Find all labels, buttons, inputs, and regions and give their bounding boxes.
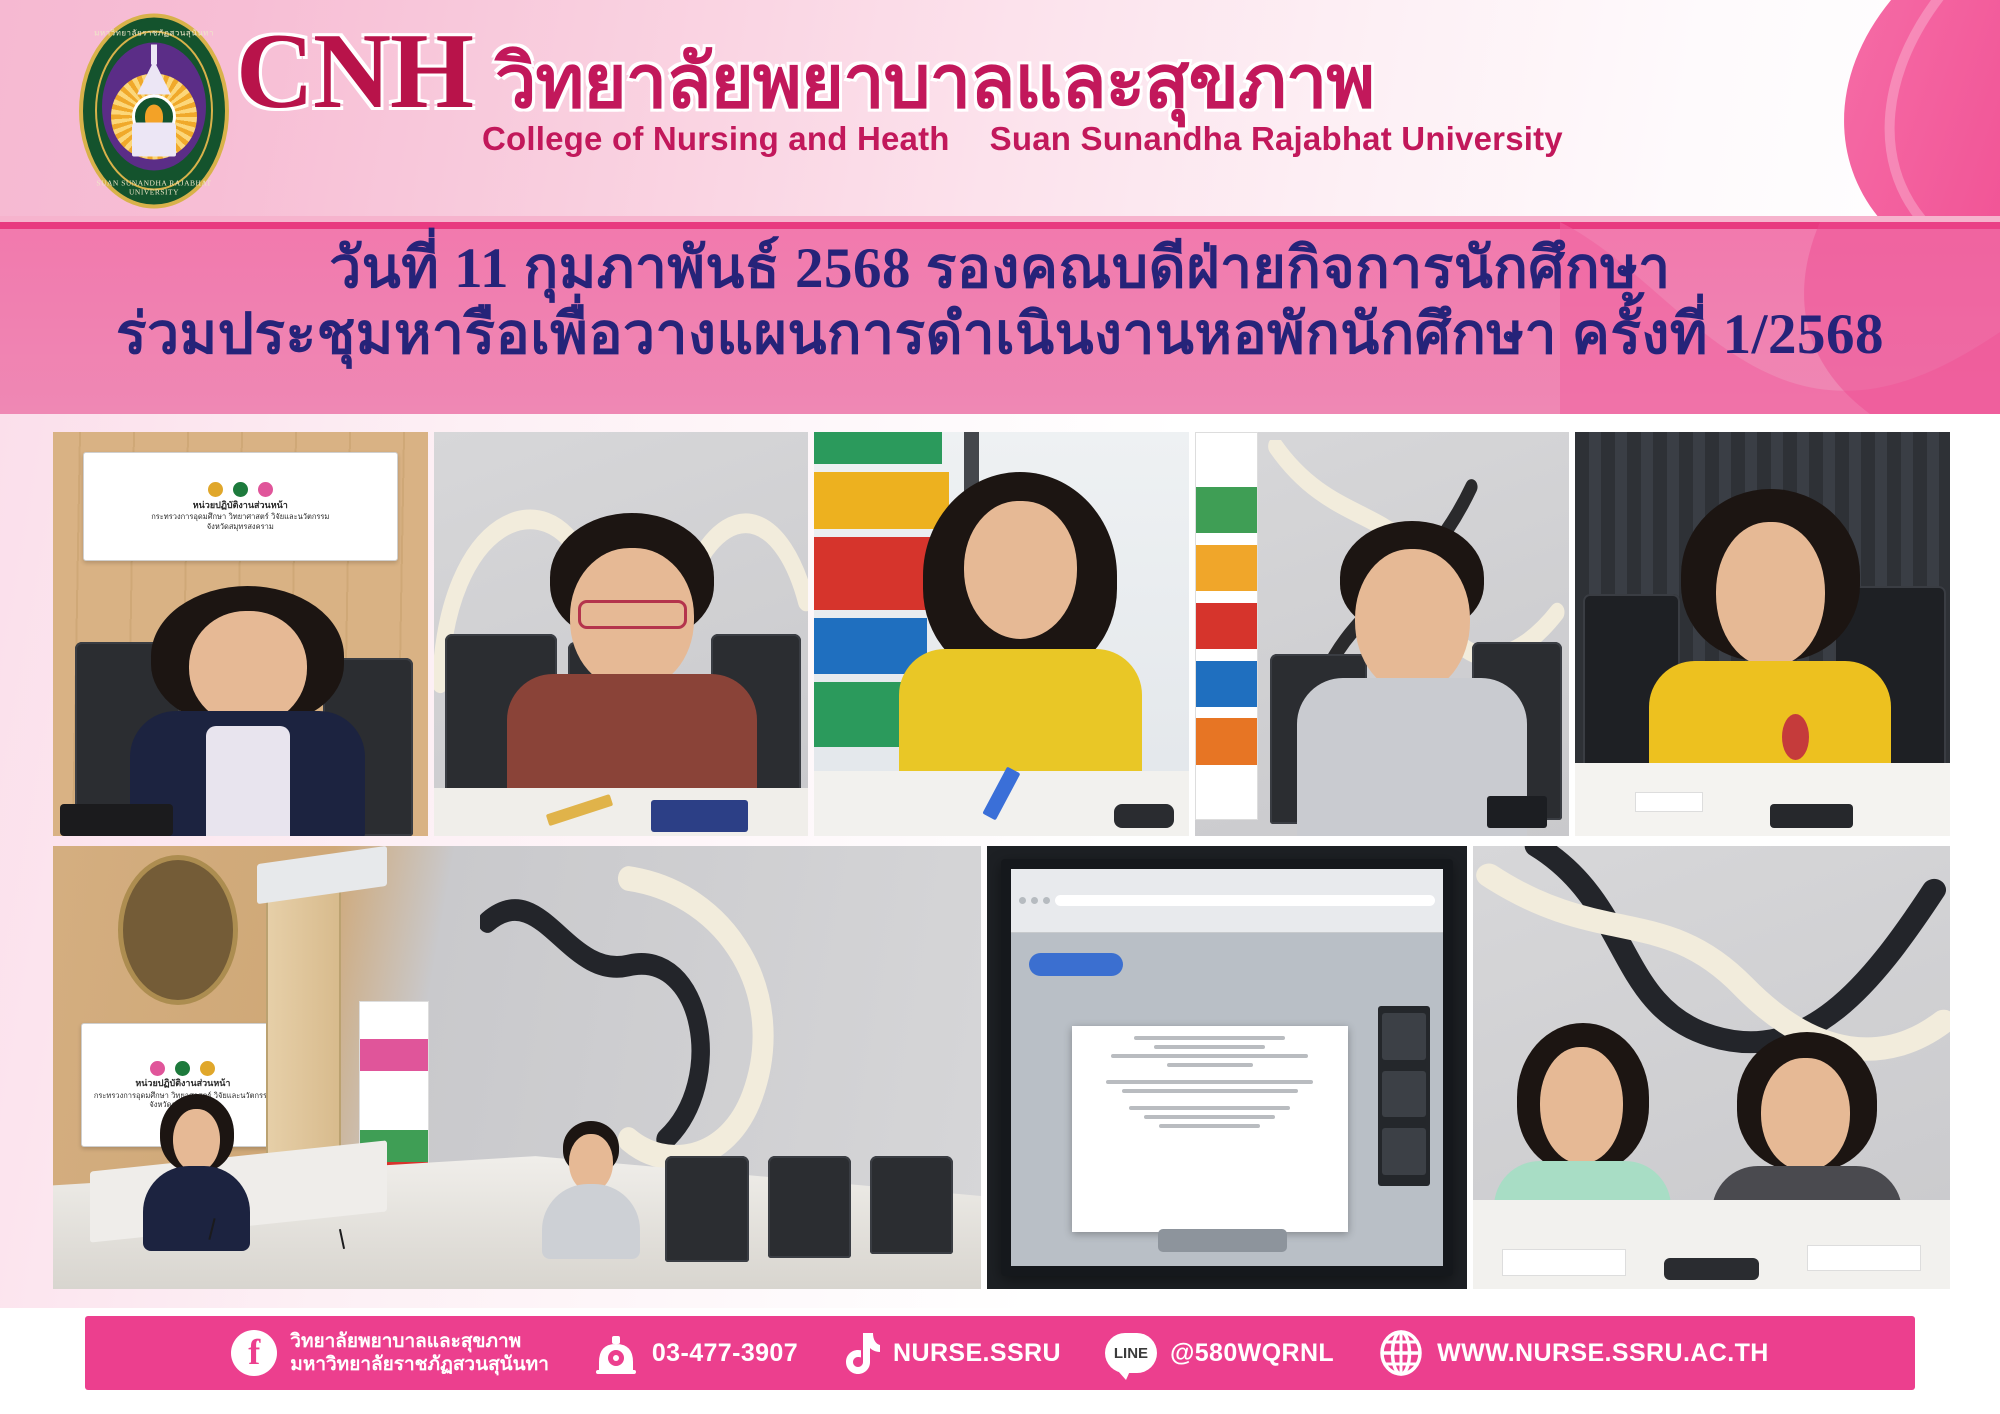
title-line-2: ร่วมประชุมหารือเพื่อวางแผนการดำเนินงานหอ…: [0, 302, 2000, 368]
ssru-logo: มหาวิทยาลัยราชภัฏสวนสุนันทา SUAN SUNANDH…: [64, 8, 244, 213]
sign-line-3: จังหวัดสมุทรสงคราม: [207, 522, 274, 532]
photo-bottom-1[interactable]: หน่วยปฏิบัติงานส่วนหน้า กระทรวงการอุดมศึ…: [53, 846, 981, 1289]
photo-top-3[interactable]: [814, 432, 1189, 836]
tiktok-handle: NURSE.SSRU: [893, 1339, 1061, 1368]
gallery-row-top: หน่วยปฏิบัติงานส่วนหน้า กระทรวงการอุดมศึ…: [53, 432, 1950, 836]
title-banner: วันที่ 11 กุมภาพันธ์ 2568 รองคณบดีฝ่ายกิ…: [0, 222, 2000, 414]
footer-tiktok[interactable]: NURSE.SSRU: [842, 1331, 1061, 1375]
facebook-label: วิทยาลัยพยาบาลและสุขภาพ มหาวิทยาลัยราชภั…: [290, 1330, 549, 1376]
website-url: WWW.NURSE.SSRU.AC.TH: [1437, 1339, 1769, 1368]
footer-facebook[interactable]: f วิทยาลัยพยาบาลและสุขภาพ มหาวิทยาลัยราช…: [231, 1330, 549, 1376]
phone-number: 03-477-3907: [652, 1339, 798, 1368]
photo-top-5[interactable]: [1575, 432, 1950, 836]
telephone-icon: [593, 1332, 639, 1374]
facebook-icon: f: [231, 1330, 277, 1376]
line-icon: LINE: [1105, 1333, 1157, 1373]
globe-icon: [1378, 1330, 1424, 1376]
photo-top-4[interactable]: [1195, 432, 1570, 836]
room-sign-line-1: หน่วยปฏิบัติงานส่วนหน้า: [135, 1079, 230, 1090]
footer-website[interactable]: WWW.NURSE.SSRU.AC.TH: [1378, 1330, 1769, 1376]
footer-phone[interactable]: 03-477-3907: [593, 1332, 798, 1374]
thai-college-title: วิทยาลัยพยาบาลและสุขภาพ: [495, 45, 1374, 119]
english-university-name: Suan Sunandha Rajabhat University: [990, 120, 1563, 158]
line-id: @580WQRNL: [1170, 1339, 1334, 1368]
poster-root: มหาวิทยาลัยราชภัฏสวนสุนันทา SUAN SUNANDH…: [0, 0, 2000, 1414]
photo-gallery: หน่วยปฏิบัติงานส่วนหน้า กระทรวงการอุดมศึ…: [0, 414, 2000, 1308]
header-bar: มหาวิทยาลัยราชภัฏสวนสุนันทา SUAN SUNANDH…: [0, 0, 2000, 222]
english-college-title: College of Nursing and Heath: [482, 120, 950, 158]
footer-line[interactable]: LINE @580WQRNL: [1105, 1333, 1334, 1373]
title-banner-text: วันที่ 11 กุมภาพันธ์ 2568 รองคณบดีฝ่ายกิ…: [0, 222, 2000, 367]
brand-block: CNH วิทยาลัยพยาบาลและสุขภาพ College of N…: [236, 18, 1736, 208]
tiktok-icon: [842, 1331, 880, 1375]
sign-line-1: หน่วยปฏิบัติงานส่วนหน้า: [193, 501, 288, 512]
contact-footer: f วิทยาลัยพยาบาลและสุขภาพ มหาวิทยาลัยราช…: [85, 1316, 1915, 1390]
facebook-label-line2: มหาวิทยาลัยราชภัฏสวนสุนันทา: [290, 1353, 549, 1375]
title-line-1: วันที่ 11 กุมภาพันธ์ 2568 รองคณบดีฝ่ายกิ…: [0, 236, 2000, 302]
logo-text-bottom: SUAN SUNANDHA RAJABHAT UNIVERSITY: [83, 178, 225, 196]
photo-bottom-3[interactable]: [1473, 846, 1950, 1289]
gallery-row-bottom: หน่วยปฏิบัติงานส่วนหน้า กระทรวงการอุดมศึ…: [53, 846, 1950, 1289]
line-icon-text: LINE: [1105, 1333, 1157, 1373]
logo-text-top: มหาวิทยาลัยราชภัฏสวนสุนันทา: [83, 26, 225, 39]
photo-bottom-2[interactable]: [987, 846, 1467, 1289]
photo-top-2[interactable]: [434, 432, 809, 836]
cnh-acronym: CNH: [236, 18, 473, 126]
facebook-label-line1: วิทยาลัยพยาบาลและสุขภาพ: [290, 1330, 521, 1352]
sign-line-2: กระทรวงการอุดมศึกษา วิทยาศาสตร์ วิจัยและ…: [151, 512, 329, 522]
photo-top-1[interactable]: หน่วยปฏิบัติงานส่วนหน้า กระทรวงการอุดมศึ…: [53, 432, 428, 836]
